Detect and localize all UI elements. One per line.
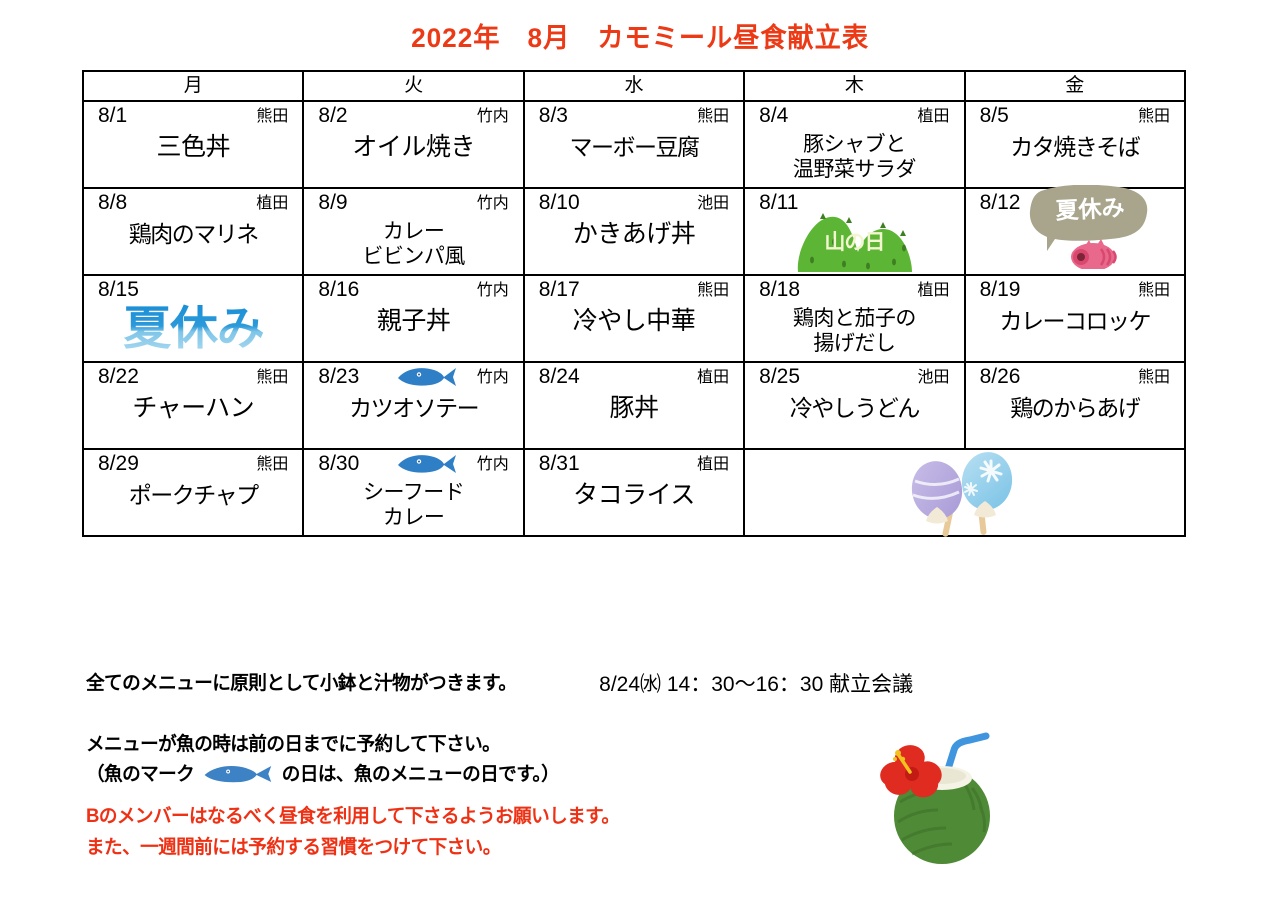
weekday-header-mon: 月	[83, 71, 303, 101]
day-date: 8/25	[759, 365, 800, 388]
day-date: 8/11	[759, 191, 798, 214]
coconut-drink-icon-svg	[876, 730, 1016, 880]
day-cell-header: 8/18 植田	[745, 276, 963, 302]
weekday-header-wed: 水	[524, 71, 744, 101]
day-cell[interactable]: 8/23 竹内 カツオソテー	[303, 362, 523, 449]
day-date: 8/17	[539, 278, 580, 301]
holiday-graphic-slot: 山の日	[745, 211, 963, 274]
day-cell-holiday[interactable]: 8/11	[744, 188, 964, 275]
day-date: 8/18	[759, 278, 800, 301]
mountain-icon-label: 山の日	[790, 232, 918, 253]
day-cell-header: 8/10 池田	[525, 189, 743, 215]
day-date: 8/10	[539, 191, 580, 214]
day-date: 8/15	[98, 278, 139, 301]
day-cell[interactable]: 8/26 熊田 鶏のからあげ	[965, 362, 1185, 449]
day-staff: 熊田	[256, 452, 290, 477]
day-cell-header: 8/12	[966, 189, 1184, 215]
day-cell[interactable]: 8/16 竹内 親子丼	[303, 275, 523, 362]
day-cell-header: 8/23 竹内	[304, 363, 522, 389]
coconut-drink-illustration	[876, 730, 1016, 880]
day-menu: カレーコロッケ	[966, 302, 1184, 336]
day-staff: 植田	[697, 365, 731, 390]
day-menu: 冷やしうどん	[745, 389, 963, 423]
day-cell[interactable]: 8/31 植田 タコライス	[524, 449, 744, 536]
day-menu: シーフード カレー	[304, 476, 522, 530]
day-cell-header: 8/31 植田	[525, 450, 743, 476]
fish-marker-icon-legend	[203, 764, 274, 784]
side-dish-note: 全てのメニューに原則として小鉢と汁物がつきます。	[86, 668, 516, 698]
calendar-week-row: 8/22 熊田 チャーハン 8/23 竹内	[83, 362, 1185, 449]
day-menu: ポークチャプ	[84, 476, 302, 510]
weekday-header-fri: 金	[965, 71, 1185, 101]
day-cell-header: 8/3 熊田	[525, 102, 743, 128]
calendar-body: 8/1 熊田 三色丼 8/2 竹内 オイル焼き 8/3 熊田	[83, 101, 1185, 536]
day-cell[interactable]: 8/10 池田 かきあげ丼	[524, 188, 744, 275]
day-cell-holiday[interactable]: 8/15 夏休み	[83, 275, 303, 362]
day-cell-header: 8/29 熊田	[84, 450, 302, 476]
calendar-week-row: 8/15 夏休み 8/16 竹内 親子丼 8/17	[83, 275, 1185, 362]
fish-note-suffix: の日は、魚のメニューの日です。）	[282, 764, 559, 785]
day-cell[interactable]: 8/17 熊田 冷やし中華	[524, 275, 744, 362]
day-staff: 竹内	[477, 191, 511, 216]
day-staff: 池田	[697, 191, 731, 216]
page-title-bar: 2022年 8月 カモミール昼食献立表	[0, 0, 1280, 44]
mountain-icon: 山の日	[790, 212, 918, 274]
day-menu: マーボー豆腐	[525, 128, 743, 162]
day-cell-header: 8/11	[745, 189, 963, 215]
day-cell-header: 8/5 熊田	[966, 102, 1184, 128]
day-cell-header: 8/22 熊田	[84, 363, 302, 389]
day-date: 8/9	[318, 191, 347, 214]
day-staff: 植田	[918, 278, 952, 303]
day-cell-header: 8/17 熊田	[525, 276, 743, 302]
day-cell-header: 8/9 竹内	[304, 189, 522, 215]
day-menu: 豚シャブと 温野菜サラダ	[745, 128, 963, 182]
day-date: 8/12	[980, 191, 1021, 214]
day-cell-header: 8/1 熊田	[84, 102, 302, 128]
day-menu: 鶏のからあげ	[966, 389, 1184, 423]
day-staff: 熊田	[697, 104, 731, 129]
summer-break-text: 夏休み	[123, 304, 263, 352]
day-cell-header: 8/19 熊田	[966, 276, 1184, 302]
day-cell-header: 8/30 竹内	[304, 450, 522, 476]
uchiwa-fans-icon	[905, 445, 1025, 541]
day-date: 8/4	[759, 104, 788, 127]
day-cell[interactable]: 8/2 竹内 オイル焼き	[303, 101, 523, 188]
day-cell[interactable]: 8/29 熊田 ポークチャプ	[83, 449, 303, 536]
day-staff: 竹内	[477, 278, 511, 303]
day-date: 8/8	[98, 191, 127, 214]
day-date: 8/1	[98, 104, 127, 127]
day-staff: 竹内	[477, 104, 511, 129]
day-staff: 植田	[256, 191, 290, 216]
day-cell-header: 8/25 池田	[745, 363, 963, 389]
day-menu: 豚丼	[525, 389, 743, 423]
day-cell[interactable]: 8/25 池田 冷やしうどん	[744, 362, 964, 449]
day-staff: 熊田	[256, 104, 290, 129]
day-date: 8/26	[980, 365, 1021, 388]
day-menu: タコライス	[525, 476, 743, 510]
day-staff: 熊田	[1138, 278, 1172, 303]
day-cell[interactable]: 8/9 竹内 カレー ビビンパ風	[303, 188, 523, 275]
fish-note-line-1: メニューが魚の時は前の日までに予約して下さい。	[86, 730, 559, 760]
day-menu: 冷やし中華	[525, 302, 743, 336]
day-cell[interactable]: 8/5 熊田 カタ焼きそば	[965, 101, 1185, 188]
day-cell[interactable]: 8/1 熊田 三色丼	[83, 101, 303, 188]
day-staff: 池田	[918, 365, 952, 390]
day-menu: 鶏肉のマリネ	[84, 215, 302, 249]
meeting-note: 8/24㈬ 14：30～16：30 献立会議	[599, 668, 913, 698]
page-title: 2022年 8月 カモミール昼食献立表	[411, 16, 869, 55]
calendar-table: 月 火 水 木 金 8/1 熊田 三色丼 8/2	[82, 70, 1186, 537]
day-cell-holiday[interactable]: 8/12	[965, 188, 1185, 275]
fish-note-line-2: （魚のマーク の日は、魚のメニューの日です。）	[86, 760, 559, 790]
note-row-side-dish: 全てのメニューに原則として小鉢と汁物がつきます。 8/24㈬ 14：30～16：…	[86, 668, 1206, 698]
menu-calendar: 月 火 水 木 金 8/1 熊田 三色丼 8/2	[82, 70, 1186, 537]
day-menu: 鶏肉と茄子の 揚げだし	[745, 302, 963, 356]
day-date: 8/2	[318, 104, 347, 127]
fish-note-prefix: （魚のマーク	[86, 764, 194, 785]
red-note-line-2: また、一週間前には予約する習慣をつけて下さい。	[86, 832, 619, 863]
day-cell-header: 8/16 竹内	[304, 276, 522, 302]
day-menu: オイル焼き	[304, 128, 522, 162]
day-staff: 熊田	[697, 278, 731, 303]
note-row-fish-reservation: メニューが魚の時は前の日までに予約して下さい。 （魚のマーク の日は、魚のメニュ…	[86, 730, 569, 790]
day-cell-header: 8/8 植田	[84, 189, 302, 215]
day-menu: 親子丼	[304, 302, 522, 336]
day-menu: チャーハン	[84, 389, 302, 423]
day-staff: 植田	[918, 104, 952, 129]
day-date: 8/5	[980, 104, 1009, 127]
day-cell[interactable]: 8/18 植田 鶏肉と茄子の 揚げだし	[744, 275, 964, 362]
day-menu: 三色丼	[84, 128, 302, 162]
day-cell-header: 8/15	[84, 276, 302, 302]
day-date: 8/31	[539, 452, 580, 475]
day-date: 8/23	[318, 365, 359, 388]
day-date: 8/3	[539, 104, 568, 127]
weekday-header-tue: 火	[303, 71, 523, 101]
day-staff: 熊田	[1138, 365, 1172, 390]
day-cell[interactable]: 8/3 熊田 マーボー豆腐	[524, 101, 744, 188]
day-menu: カツオソテー	[304, 389, 522, 423]
day-date: 8/16	[318, 278, 359, 301]
day-date: 8/30	[318, 452, 359, 475]
day-staff: 熊田	[1138, 104, 1172, 129]
day-menu: カタ焼きそば	[966, 128, 1184, 162]
day-menu: かきあげ丼	[525, 215, 743, 249]
day-staff: 熊田	[256, 365, 290, 390]
day-date: 8/29	[98, 452, 139, 475]
day-cell[interactable]: 8/22 熊田 チャーハン	[83, 362, 303, 449]
day-cell-header: 8/2 竹内	[304, 102, 522, 128]
day-staff: 植田	[697, 452, 731, 477]
calendar-week-row: 8/1 熊田 三色丼 8/2 竹内 オイル焼き 8/3 熊田	[83, 101, 1185, 188]
calendar-header: 月 火 水 木 金	[83, 71, 1185, 101]
weekday-header-thu: 木	[744, 71, 964, 101]
day-cell-empty-decorative	[744, 449, 1185, 536]
day-cell[interactable]: 8/8 植田 鶏肉のマリネ	[83, 188, 303, 275]
day-menu: カレー ビビンパ風	[304, 215, 522, 269]
day-date: 8/19	[980, 278, 1021, 301]
calendar-week-row: 8/8 植田 鶏肉のマリネ 8/9 竹内 カレー ビビンパ風 8/10 池田	[83, 188, 1185, 275]
fish-marker-icon-legend-svg	[203, 764, 274, 784]
decoration-slot	[745, 450, 1184, 535]
calendar-week-row: 8/29 熊田 ポークチャプ 8/30 竹内	[83, 449, 1185, 536]
day-date: 8/22	[98, 365, 139, 388]
day-cell[interactable]: 8/24 植田 豚丼	[524, 362, 744, 449]
day-cell[interactable]: 8/4 植田 豚シャブと 温野菜サラダ	[744, 101, 964, 188]
weekday-header-row: 月 火 水 木 金	[83, 71, 1185, 101]
day-cell[interactable]: 8/19 熊田 カレーコロッケ	[965, 275, 1185, 362]
day-cell-header: 8/4 植田	[745, 102, 963, 128]
day-cell[interactable]: 8/30 竹内 シーフード カレー	[303, 449, 523, 536]
day-staff: 竹内	[477, 365, 511, 390]
red-note-line-1: Bのメンバーはなるべく昼食を利用して下さるようお願いします。	[86, 801, 619, 832]
uchiwa-fans-icon-svg	[905, 445, 1025, 541]
day-date: 8/24	[539, 365, 580, 388]
holiday-graphic-slot: 夏休み	[84, 294, 302, 361]
day-cell-header: 8/26 熊田	[966, 363, 1184, 389]
day-cell-header: 8/24 植田	[525, 363, 743, 389]
day-staff: 竹内	[477, 452, 511, 477]
note-row-request: Bのメンバーはなるべく昼食を利用して下さるようお願いします。 また、一週間前には…	[86, 801, 630, 863]
